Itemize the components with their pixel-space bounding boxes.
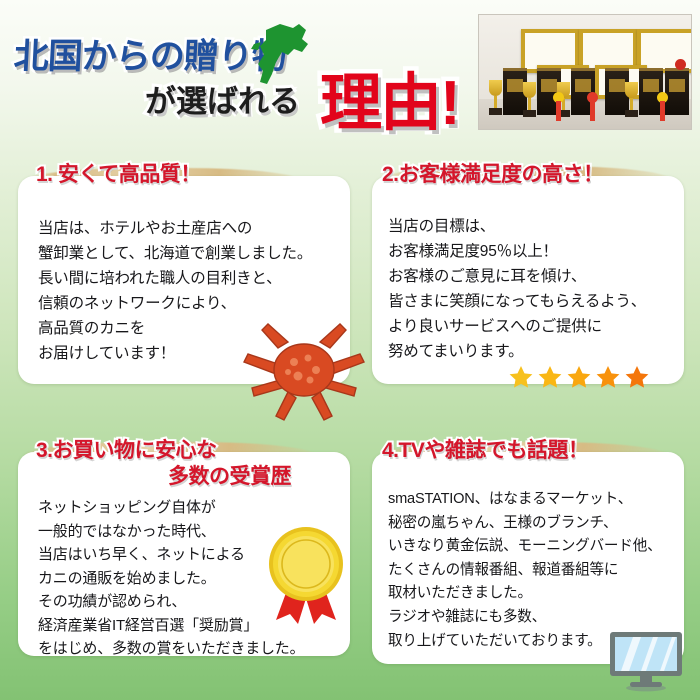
star-icon bbox=[595, 364, 621, 390]
panel-1-headline: 1. 安くて高品質！ bbox=[36, 158, 201, 188]
award-plaque bbox=[665, 68, 689, 115]
star-icon bbox=[624, 364, 650, 390]
award-rosette bbox=[675, 59, 686, 70]
award-rosette bbox=[553, 92, 564, 103]
satisfaction-star-rating bbox=[508, 364, 650, 390]
gold-medal-icon bbox=[258, 520, 354, 628]
panel-3-headline-line2: 多数の受賞歴 bbox=[168, 460, 291, 490]
star-icon bbox=[566, 364, 592, 390]
trophy-icon bbox=[625, 82, 638, 117]
award-rosette bbox=[657, 92, 668, 103]
reason-panel-2: 2.お客様満足度の高さ！ 当店の目標は、 お客様満足度95％以上！ お客様のご意… bbox=[372, 176, 684, 384]
panel-2-headline: 2.お客様満足度の高さ！ bbox=[382, 158, 604, 188]
award-rosette bbox=[587, 92, 598, 103]
trophy-icon bbox=[523, 82, 536, 117]
star-icon bbox=[537, 364, 563, 390]
king-crab-icon bbox=[238, 318, 370, 428]
banner-header: 北国からの贈り物 が選ばれる 理由! bbox=[0, 0, 700, 146]
panel-2-body: 当店の目標は、 お客様満足度95％以上！ お客様のご意見に耳を傾け、 皆さまに笑… bbox=[388, 214, 678, 364]
panel-4-body: smaSTATION、はなまるマーケット、 秘密の嵐ちゃん、王様のブランチ、 い… bbox=[388, 488, 680, 653]
star-icon bbox=[508, 364, 534, 390]
award-trophy-photo bbox=[478, 14, 692, 130]
subtitle-text: が選ばれる bbox=[145, 76, 300, 121]
television-icon bbox=[608, 630, 684, 692]
panel-4-headline: 4.TVや雑誌でも話題！ bbox=[382, 434, 588, 464]
promo-banner: 北国からの贈り物 が選ばれる 理由! bbox=[0, 0, 700, 700]
headline-reason: 理由! bbox=[320, 52, 459, 142]
trophy-icon bbox=[489, 80, 502, 115]
